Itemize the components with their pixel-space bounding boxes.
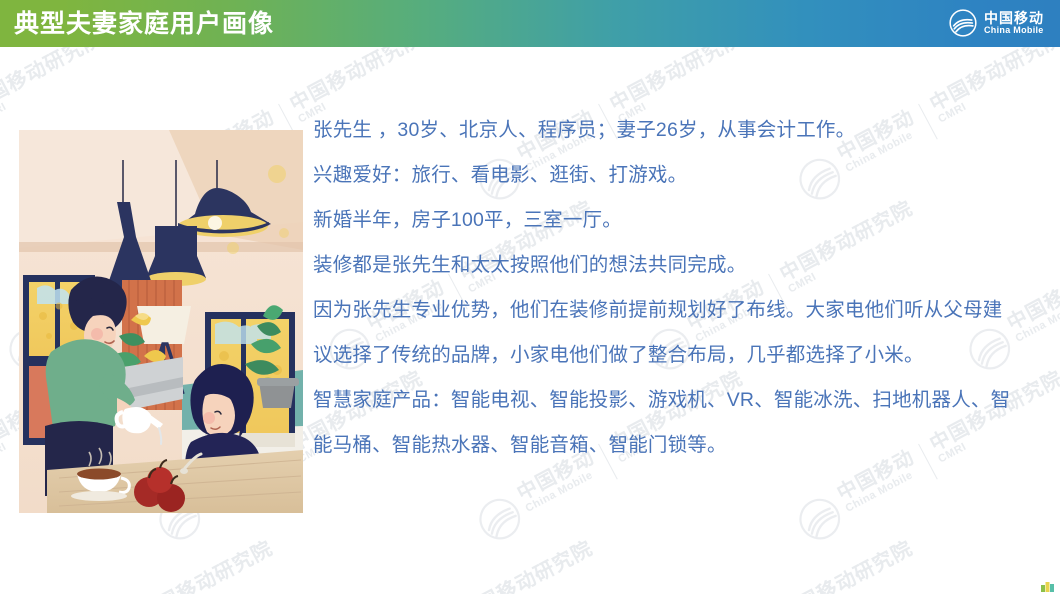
watermark-cell: 中国移动China Mobile中国移动研究院CMRI bbox=[640, 538, 927, 594]
brand-name-cn: 中国移动 bbox=[984, 11, 1044, 26]
body-content: 张先生 ，30岁、北京人、程序员；妻子26岁，从事会计工作。 兴趣爱好：旅行、看… bbox=[313, 108, 1021, 468]
watermark-en-right: CMRI bbox=[0, 47, 112, 126]
watermark-cell: 中国移动China Mobile中国移动研究院CMRI bbox=[320, 538, 607, 594]
watermark-en-left: China Mobile bbox=[524, 466, 604, 516]
china-mobile-logo-icon bbox=[949, 9, 977, 37]
watermark-text-right: 中国移动研究院CMRI bbox=[137, 538, 282, 594]
watermark-en-right: CMRI bbox=[467, 557, 602, 594]
paragraph-smart-home-products: 智慧家庭产品：智能电视、智能投影、游戏机、VR、智能冰洗、扫地机器人、智能马桶、… bbox=[313, 378, 1021, 468]
watermark-en-right: CMRI bbox=[147, 557, 282, 594]
brand-lockup: 中国移动 China Mobile bbox=[949, 9, 1044, 37]
paragraph-hobbies: 兴趣爱好：旅行、看电影、逛街、打游戏。 bbox=[313, 153, 1021, 198]
home-couple-illustration bbox=[19, 130, 303, 513]
brand-text: 中国移动 China Mobile bbox=[984, 11, 1044, 35]
paragraph-profile: 张先生 ，30岁、北京人、程序员；妻子26岁，从事会计工作。 bbox=[313, 108, 1021, 153]
watermark-cn-right: 中国移动研究院 bbox=[777, 538, 917, 594]
watermark-text-right: 中国移动研究院CMRI bbox=[457, 538, 602, 594]
slide-root: 中国移动China Mobile中国移动研究院CMRI中国移动China Mob… bbox=[0, 0, 1060, 594]
paragraph-appliances: 因为张先生专业优势，他们在装修前提前规划好了布线。大家电他们听从父母建议选择了传… bbox=[313, 288, 1021, 378]
watermark-cn-right: 中国移动研究院 bbox=[457, 538, 597, 594]
watermark-en-right: CMRI bbox=[787, 557, 922, 594]
paragraph-decoration: 装修都是张先生和太太按照他们的想法共同完成。 bbox=[313, 243, 1021, 288]
watermark-cn-right: 中国移动研究院 bbox=[137, 538, 277, 594]
slide-header-bar: 典型夫妻家庭用户画像 中国移动 China Mobile bbox=[0, 0, 1060, 47]
corner-decoration-icon bbox=[1040, 579, 1056, 592]
china-mobile-watermark-logo-icon bbox=[470, 489, 530, 549]
watermark-en-left: China Mobile bbox=[844, 466, 924, 516]
watermark-cell: 中国移动China Mobile中国移动研究院CMRI bbox=[0, 538, 287, 594]
page-title: 典型夫妻家庭用户画像 bbox=[14, 5, 274, 43]
brand-name-en: China Mobile bbox=[984, 26, 1044, 35]
watermark-text-right: 中国移动研究院CMRI bbox=[777, 538, 922, 594]
china-mobile-watermark-logo-icon bbox=[790, 489, 850, 549]
paragraph-housing: 新婚半年，房子100平，三室一厅。 bbox=[313, 198, 1021, 243]
